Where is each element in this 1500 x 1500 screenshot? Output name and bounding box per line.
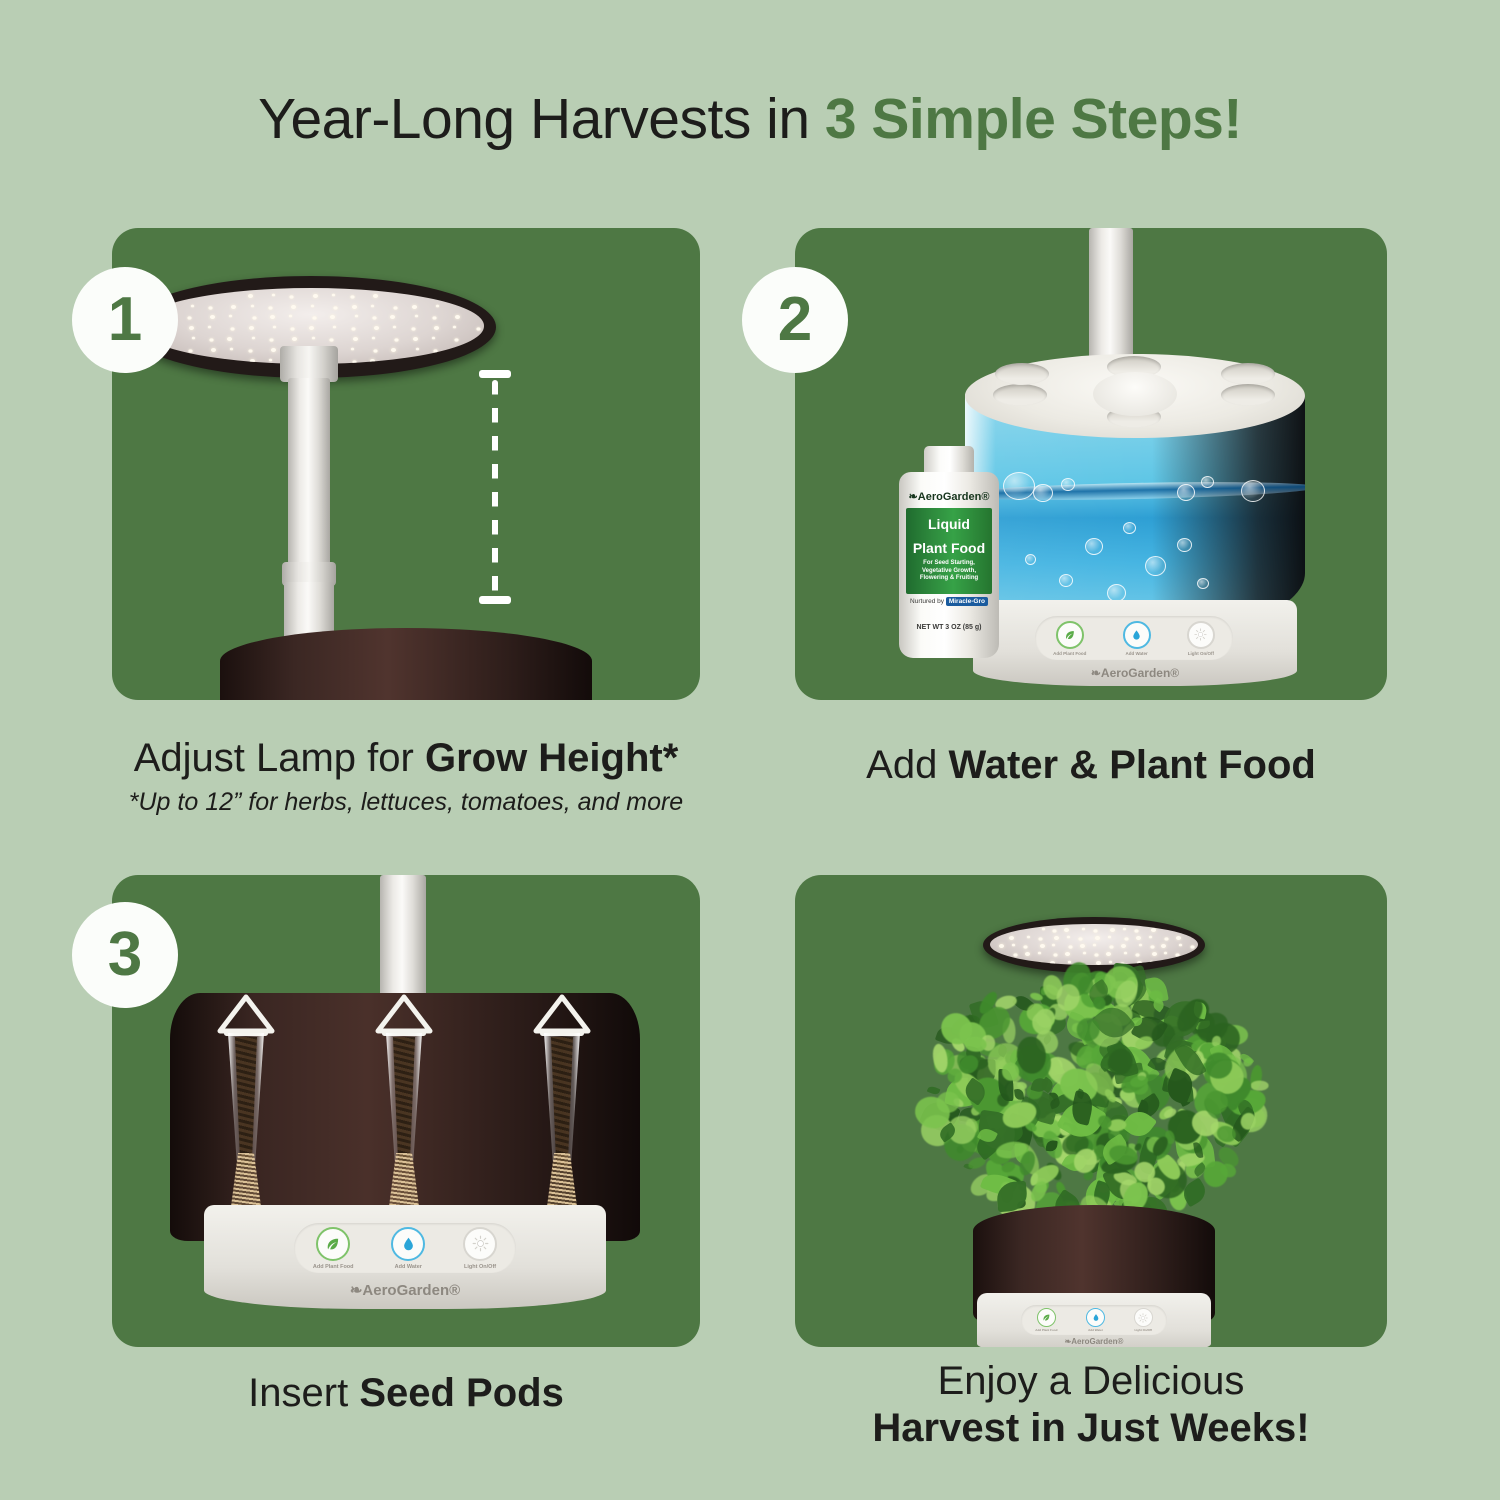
foliage-leaf bbox=[927, 1085, 940, 1096]
control-label: Add Water bbox=[395, 1264, 422, 1270]
lamp-pole bbox=[1089, 228, 1133, 368]
bubble bbox=[1003, 472, 1035, 500]
garden-base: Add Plant Food Add Water Light On bbox=[973, 600, 1297, 686]
control-label: Add Water bbox=[1088, 1328, 1103, 1332]
led-array bbox=[990, 924, 1198, 965]
control-label: Add Water bbox=[1125, 651, 1147, 656]
measure-cap-bottom bbox=[479, 596, 511, 604]
sun-icon bbox=[463, 1227, 497, 1261]
step-3-panel: Add Plant Food Add Water Light On bbox=[112, 875, 700, 1347]
sun-icon bbox=[1134, 1308, 1153, 1327]
control-button-light-on-off[interactable]: Light On/Off bbox=[1187, 621, 1215, 656]
step-2-caption-plain: Add bbox=[866, 743, 948, 787]
foliage-leaf bbox=[1251, 1081, 1269, 1091]
control-label: Add Plant Food bbox=[313, 1264, 354, 1270]
control-button-add-water[interactable]: Add Water bbox=[391, 1227, 425, 1270]
step-3-badge: 3 bbox=[72, 902, 178, 1008]
nurtured-prefix: Nurtured by bbox=[910, 598, 946, 605]
water-drop-icon bbox=[1123, 621, 1151, 649]
step-1-badge: 1 bbox=[72, 267, 178, 373]
measure-cap-top bbox=[479, 370, 511, 378]
bottle-nurtured-by: Nurtured by Miracle-Gro bbox=[895, 598, 1003, 605]
miracle-gro-logo: Miracle-Gro bbox=[946, 597, 988, 606]
control-button-add-water[interactable]: Add Water bbox=[1086, 1308, 1105, 1332]
brand-logo: ❧AeroGarden® bbox=[977, 1337, 1211, 1346]
control-label: Light On/Off bbox=[1188, 651, 1214, 656]
pod-hole bbox=[1221, 384, 1275, 406]
step-1-caption: Adjust Lamp for Grow Height* bbox=[112, 735, 700, 782]
control-button-light-on-off[interactable]: Light On/Off bbox=[1134, 1308, 1153, 1332]
control-button-add-plant-food[interactable]: Add Plant Food bbox=[1035, 1308, 1057, 1332]
bubble bbox=[1241, 480, 1265, 502]
lamp-mount bbox=[280, 346, 338, 382]
brand-logo: ❧AeroGarden® bbox=[973, 666, 1297, 680]
control-button-light-on-off[interactable]: Light On/Off bbox=[463, 1227, 497, 1270]
pod-hole bbox=[1221, 363, 1275, 385]
lamp-pole bbox=[380, 875, 426, 1003]
control-button-add-plant-food[interactable]: Add Plant Food bbox=[1053, 621, 1086, 656]
pod-hole bbox=[993, 384, 1047, 406]
garden-base: Add Plant Food Add Water Light On bbox=[977, 1293, 1211, 1347]
bottle-product-line-1: Liquid bbox=[906, 517, 992, 532]
step-2-caption-bold: Water & Plant Food bbox=[948, 743, 1315, 787]
page-title-lead: Year-Long Harvests in bbox=[258, 87, 825, 151]
step-2-panel: Add Plant Food Add Water Light On bbox=[795, 228, 1387, 700]
step-4-panel: Add Plant Food Add Water Light On bbox=[795, 875, 1387, 1347]
control-panel[interactable]: Add Plant Food Add Water Light On bbox=[1021, 1305, 1167, 1335]
control-button-add-water[interactable]: Add Water bbox=[1123, 621, 1151, 656]
page-title: Year-Long Harvests in 3 Simple Steps! bbox=[0, 86, 1500, 152]
bubble bbox=[1033, 484, 1053, 502]
control-label: Light On/Off bbox=[464, 1264, 496, 1270]
bottle-product-description: For Seed Starting, Vegetative Growth, Fl… bbox=[906, 560, 992, 583]
bottle-product-line-2: Plant Food bbox=[906, 541, 992, 556]
step-1-caption-plain: Adjust Lamp for bbox=[134, 736, 425, 780]
control-panel[interactable]: Add Plant Food Add Water Light On bbox=[1035, 616, 1233, 660]
herb-garden-plants bbox=[913, 967, 1275, 1235]
bubble bbox=[1061, 478, 1075, 491]
deck-hub bbox=[1093, 372, 1177, 416]
garden-base: Add Plant Food Add Water Light On bbox=[204, 1205, 606, 1309]
lamp-face bbox=[990, 924, 1198, 965]
pod-deck bbox=[965, 354, 1305, 438]
water-drop-icon bbox=[391, 1227, 425, 1261]
bottle-label: Liquid Plant Food For Seed Starting, Veg… bbox=[906, 508, 992, 594]
page-title-accent: 3 Simple Steps! bbox=[825, 87, 1242, 151]
sun-icon bbox=[1187, 621, 1215, 649]
leaf-icon bbox=[316, 1227, 350, 1261]
step-1-caption-bold: Grow Height* bbox=[425, 736, 678, 780]
bubble bbox=[1025, 554, 1036, 565]
bubble bbox=[1123, 522, 1136, 534]
step-2-badge: 2 bbox=[742, 267, 848, 373]
garden-bowl bbox=[220, 628, 592, 700]
control-panel[interactable]: Add Plant Food Add Water Light On bbox=[294, 1223, 516, 1273]
step-4-caption-plain: Enjoy a Delicious bbox=[795, 1358, 1387, 1405]
bottle-net-weight: NET WT 3 OZ (85 g) bbox=[895, 624, 1003, 631]
water-drop-icon bbox=[1086, 1308, 1105, 1327]
lamp-pole-upper bbox=[288, 378, 330, 570]
pod-hole bbox=[995, 363, 1049, 385]
leaf-icon bbox=[1056, 621, 1084, 649]
control-button-add-plant-food[interactable]: Add Plant Food bbox=[313, 1227, 354, 1270]
brand-logo: ❧AeroGarden® bbox=[204, 1281, 606, 1299]
step-3-caption-bold: Seed Pods bbox=[359, 1371, 564, 1415]
step-1-subcaption: *Up to 12” for herbs, lettuces, tomatoes… bbox=[112, 788, 700, 817]
leaf-icon bbox=[1037, 1308, 1056, 1327]
grow-height-measure-icon bbox=[492, 370, 498, 604]
step-1-panel bbox=[112, 228, 700, 700]
bottle-brand: ❧AeroGarden® bbox=[895, 490, 1003, 503]
bubble bbox=[1177, 484, 1195, 501]
bubble bbox=[1145, 556, 1166, 576]
step-3-caption: Insert Seed Pods bbox=[112, 1370, 700, 1417]
step-3-caption-plain: Insert bbox=[248, 1371, 359, 1415]
plant-food-bottle: ❧AeroGarden® Liquid Plant Food For Seed … bbox=[895, 446, 1003, 658]
step-2-caption: Add Water & Plant Food bbox=[795, 742, 1387, 789]
control-label: Add Plant Food bbox=[1035, 1328, 1057, 1332]
measure-dashes bbox=[492, 380, 498, 594]
control-label: Light On/Off bbox=[1134, 1328, 1152, 1332]
control-label: Add Plant Food bbox=[1053, 651, 1086, 656]
step-4-caption: Enjoy a Delicious Harvest in Just Weeks! bbox=[795, 1358, 1387, 1452]
step-4-caption-bold: Harvest in Just Weeks! bbox=[795, 1405, 1387, 1452]
bubble bbox=[1085, 538, 1103, 555]
bubble bbox=[1059, 574, 1073, 587]
bubble bbox=[1177, 538, 1192, 552]
grow-lamp-icon bbox=[983, 917, 1205, 973]
bubble bbox=[1201, 476, 1214, 488]
bubble bbox=[1197, 578, 1209, 589]
